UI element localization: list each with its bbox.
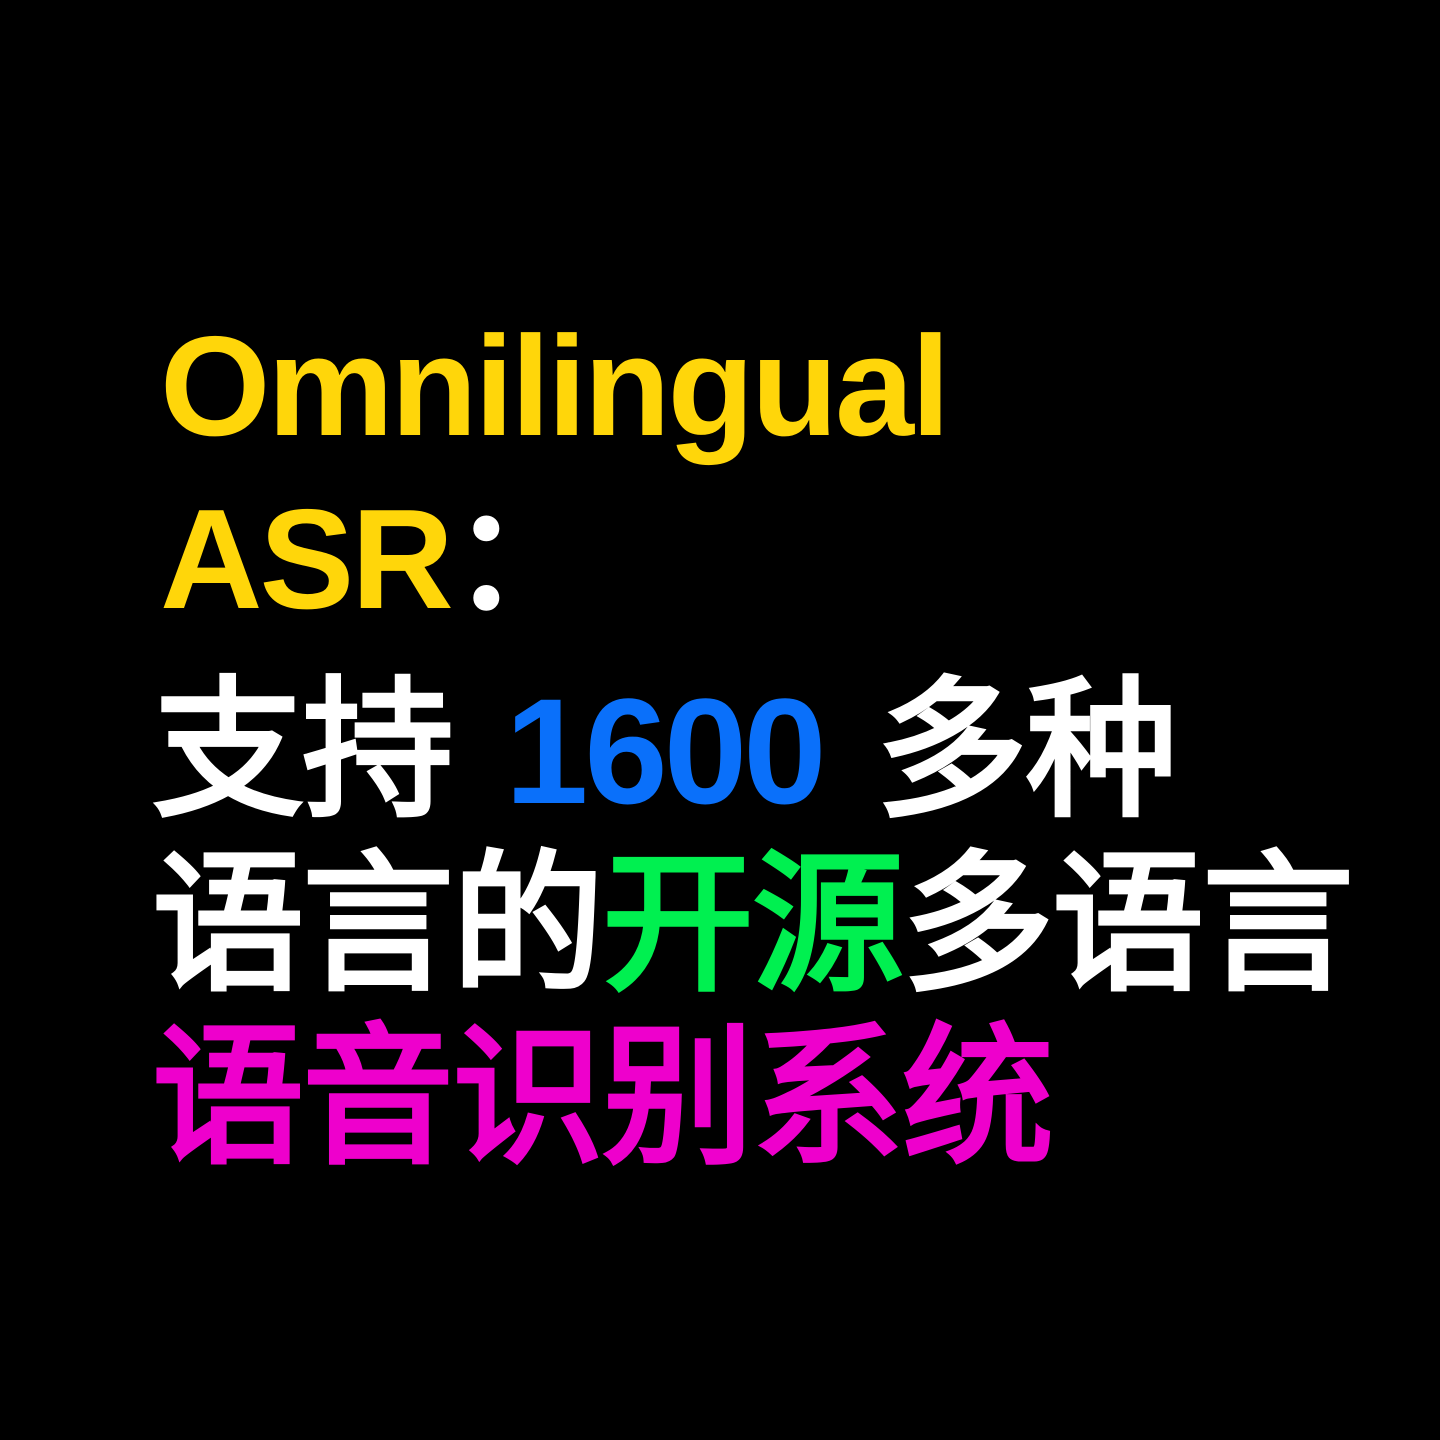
headline-line-4-segment-open-source: 开源	[602, 836, 902, 1013]
headline-line-2-segment-acronym: ASR	[160, 480, 451, 639]
headline-line-3-segment-kinds: 多种	[876, 662, 1176, 839]
headline-line-3-segment-space-left	[452, 662, 505, 839]
headline-line-3-segment-space-right	[823, 662, 876, 839]
headline-line-1-segment-brand: Omnilingual	[160, 307, 947, 466]
headline-line-2: ASR：	[160, 473, 1352, 646]
poster-canvas: Omnilingual ASR： 支持 1600 多种 语言的开源多语言 语音识…	[0, 0, 1440, 1440]
headline-line-5-segment-speech-recognition-system: 语音识别系统	[152, 1009, 1052, 1186]
headline-line-2-segment-colon: ：	[451, 480, 590, 639]
headline-line-3: 支持 1600 多种	[152, 664, 1352, 837]
headline-line-4: 语言的开源多语言	[152, 838, 1352, 1011]
headline-line-1: Omnilingual	[160, 300, 1352, 473]
headline-line-3-segment-supports: 支持	[152, 662, 452, 839]
headline-line-4-segment-multilingual: 多语言	[902, 836, 1352, 1013]
headline-line-4-segment-languages-of: 语言的	[152, 836, 602, 1013]
headline-line-5: 语音识别系统	[152, 1011, 1352, 1184]
headline-line-3-segment-language-count: 1600	[505, 667, 823, 835]
headline-text-block: Omnilingual ASR： 支持 1600 多种 语言的开源多语言 语音识…	[152, 300, 1352, 1184]
